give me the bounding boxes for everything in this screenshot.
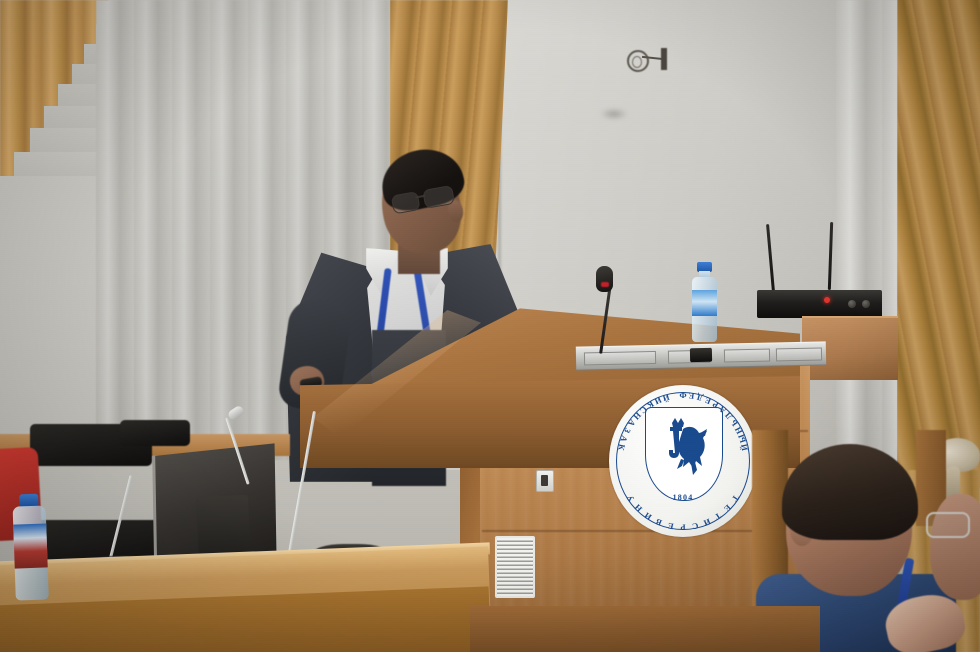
receiver-power-led xyxy=(824,297,830,303)
microphone-led xyxy=(601,282,609,287)
emblem-letter: Ф xyxy=(679,391,686,400)
emblem-letter: А xyxy=(618,434,629,443)
emblem-letter: Т xyxy=(713,511,723,522)
glasses-lens-right xyxy=(422,185,455,209)
power-outlet-plate xyxy=(536,470,554,492)
rail-segment xyxy=(724,349,770,363)
rail-segment xyxy=(776,347,822,361)
emblem-letter: З xyxy=(622,426,632,434)
receiver-knob-2 xyxy=(862,300,870,308)
glasses-lens-left xyxy=(391,191,421,214)
photograph-scene: 1804 КАЗАНСКИЙ ФЕДЕРАЛЬНЫЙУНИВЕРСИТЕТ xyxy=(0,0,980,652)
emblem-letter: Р xyxy=(680,523,685,532)
emblem-letter: Е xyxy=(688,391,695,401)
emblem-letter: Д xyxy=(696,392,704,402)
ventilation-grille xyxy=(495,536,535,598)
emblem-letter: Й xyxy=(740,443,750,451)
emblem-letter: В xyxy=(655,517,664,527)
equipment-bag xyxy=(120,420,190,446)
emblem-letter: Н xyxy=(633,502,644,513)
wall-smudge xyxy=(600,108,628,120)
rail-centre-module xyxy=(690,348,712,362)
water-bottle-desk xyxy=(12,493,49,600)
emblem-letter: У xyxy=(625,493,636,503)
emblem-letter: Е xyxy=(704,395,713,405)
audience-member-second-head xyxy=(930,494,980,600)
emblem-letter xyxy=(673,391,676,400)
bottle-label xyxy=(13,523,48,568)
bottle-label xyxy=(692,290,717,316)
water-bottle-lectern xyxy=(691,262,718,342)
receiver-knob-1 xyxy=(848,300,856,308)
emblem-letter: Й xyxy=(662,392,671,402)
audience-member-second-glasses-icon xyxy=(926,512,970,538)
emblem-letter: И xyxy=(702,517,711,528)
emblem-letter: Е xyxy=(667,521,674,531)
emblem-letter: С xyxy=(691,521,699,531)
lectern-plinth xyxy=(470,606,820,652)
emblem-letter: Е xyxy=(722,503,732,513)
gooseneck-microphone-head xyxy=(596,266,613,292)
emblem-circular-text: КАЗАНСКИЙ ФЕДЕРАЛЬНЫЙУНИВЕРСИТЕТ xyxy=(609,385,757,537)
bracket-plate xyxy=(661,48,667,70)
wall-bracket-fixture-icon xyxy=(627,42,675,76)
emblem-letter: И xyxy=(643,510,653,521)
emblem-letter: К xyxy=(616,443,626,451)
rail-segment xyxy=(584,351,656,366)
bracket-ring xyxy=(627,50,649,72)
kazan-federal-university-emblem: 1804 КАЗАНСКИЙ ФЕДЕРАЛЬНЫЙУНИВЕРСИТЕТ xyxy=(609,385,757,537)
emblem-letter: Т xyxy=(730,493,741,503)
